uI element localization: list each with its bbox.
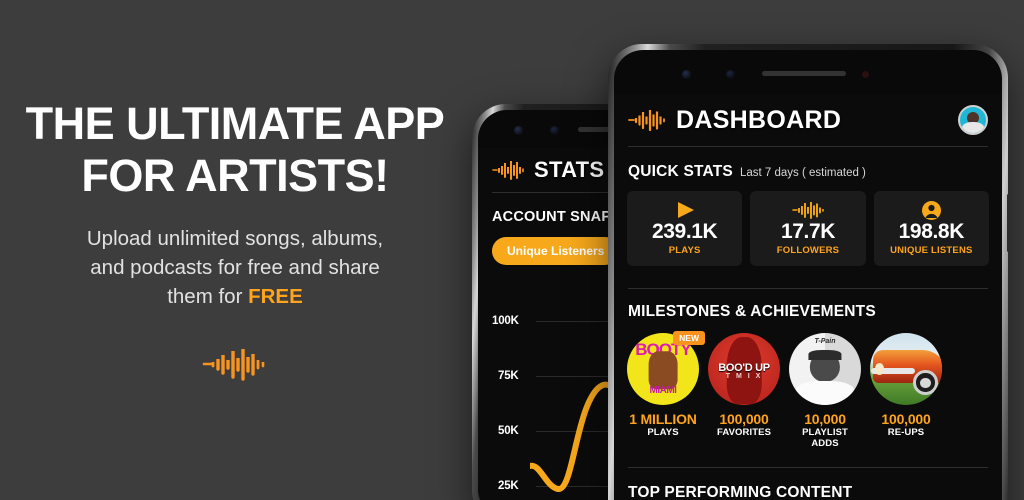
dashboard-app-header: DASHBOARD (614, 94, 1002, 146)
milestone-value: 10,000 (789, 411, 861, 427)
phone-bezel: DASHBOARD QUICK STATS Last 7 days ( esti… (614, 50, 1002, 500)
brand-waveform-icon (0, 347, 470, 381)
earpiece-speaker (762, 71, 846, 76)
dashboard-title: DASHBOARD (676, 106, 841, 135)
promo-copy: THE ULTIMATE APP FOR ARTISTS! Upload unl… (0, 98, 470, 381)
stat-label: FOLLOWERS (752, 245, 863, 256)
header-divider (628, 146, 988, 147)
milestones-header: MILESTONES & ACHIEVEMENTS (614, 303, 1002, 321)
page-title: THE ULTIMATE APP FOR ARTISTS! (0, 98, 470, 202)
artwork-cap (808, 350, 841, 360)
milestones-title: MILESTONES & ACHIEVEMENTS (628, 303, 876, 321)
dashboard-phone: DASHBOARD QUICK STATS Last 7 days ( esti… (608, 44, 1008, 500)
milestone-item[interactable]: 100,000 RE-UPS (870, 333, 942, 449)
dashboard-screen: DASHBOARD QUICK STATS Last 7 days ( esti… (614, 94, 1002, 500)
stat-value: 239.1K (629, 220, 740, 244)
front-camera-icon (682, 70, 691, 79)
free-highlight: FREE (248, 285, 303, 308)
section-divider (628, 288, 988, 289)
artwork-text-top: BOO'D UP (718, 362, 770, 374)
headline-line-2: FOR ARTISTS! (0, 150, 470, 202)
artwork-figure (649, 352, 678, 389)
artwork-car-wheel (913, 370, 937, 394)
artwork-shirt (795, 381, 854, 405)
chart-ytick-100k: 100K (492, 315, 519, 327)
subhead-line-2: and podcasts for free and share (90, 256, 379, 279)
stat-card-plays[interactable]: 239.1K PLAYS (627, 191, 742, 266)
section-divider (628, 467, 988, 468)
artwork-text-top: T-Pain (814, 338, 835, 345)
milestone-value: 100,000 (870, 411, 942, 427)
milestones-row: NEW BOOTY MIAMI 1 MILLION PLAYS (614, 333, 1002, 449)
chart-ytick-25k: 25K (498, 480, 519, 492)
user-avatar[interactable] (958, 105, 988, 135)
milestone-value: 1 MILLION (627, 411, 699, 427)
person-icon (876, 200, 987, 220)
stat-card-followers[interactable]: 17.7K FOLLOWERS (750, 191, 865, 266)
promo-subheadline: Upload unlimited songs, albums, and podc… (0, 224, 470, 311)
artwork-text-bottom: MIAMI (650, 385, 677, 396)
stat-card-unique-listens[interactable]: 198.8K UNIQUE LISTENS (874, 191, 989, 266)
secondary-camera-icon (550, 126, 559, 135)
artwork-text-bottom: T M I X (726, 373, 763, 380)
stat-value: 17.7K (752, 220, 863, 244)
avatar-body (962, 122, 984, 134)
phone-top-sensors (614, 50, 1002, 94)
subhead-line-3: them for (167, 285, 248, 308)
top-performing-title: TOP PERFORMING CONTENT (628, 484, 852, 500)
headline-line-1: THE ULTIMATE APP (26, 98, 445, 149)
secondary-camera-icon (726, 70, 735, 79)
play-icon (629, 200, 740, 220)
proximity-sensor-icon (862, 71, 869, 78)
front-camera-icon (514, 126, 523, 135)
unique-listeners-filter-pill[interactable]: Unique Listeners (492, 237, 619, 265)
top-performing-header: TOP PERFORMING CONTENT (614, 484, 1002, 500)
quick-stats-header: QUICK STATS Last 7 days ( estimated ) (614, 163, 1002, 181)
audiomack-waveform-icon (628, 109, 666, 131)
subhead-line-1: Upload unlimited songs, albums, (87, 227, 383, 250)
phone-side-button[interactable] (1007, 194, 1010, 252)
milestone-item[interactable]: NEW BOOTY MIAMI 1 MILLION PLAYS (627, 333, 699, 449)
quick-stats-card-row: 239.1K PLAYS (614, 191, 1002, 266)
milestone-artwork: T-Pain (789, 333, 861, 405)
milestone-value: 100,000 (708, 411, 780, 427)
chart-ytick-75k: 75K (498, 370, 519, 382)
milestone-item[interactable]: T-Pain 10,000 PLAYLIST ADDS (789, 333, 861, 449)
stat-value: 198.8K (876, 220, 987, 244)
stats-title: STATS (534, 157, 604, 183)
milestone-artwork (870, 333, 942, 405)
milestone-artwork: BOO'D UP T M I X (708, 333, 780, 405)
milestone-label: PLAYLIST ADDS (789, 427, 861, 449)
quick-stats-subtitle: Last 7 days ( estimated ) (740, 167, 866, 179)
audiomack-waveform-icon (492, 160, 526, 180)
new-badge: NEW (673, 331, 705, 345)
milestone-label: PLAYS (627, 427, 699, 438)
stat-label: UNIQUE LISTENS (876, 245, 987, 256)
quick-stats-title: QUICK STATS (628, 163, 733, 181)
waveform-icon (752, 200, 863, 220)
milestone-label: RE-UPS (870, 427, 942, 438)
chart-ytick-50k: 50K (498, 425, 519, 437)
milestone-item[interactable]: BOO'D UP T M I X 100,000 FAVORITES (708, 333, 780, 449)
milestone-label: FAVORITES (708, 427, 780, 438)
stat-label: PLAYS (629, 245, 740, 256)
